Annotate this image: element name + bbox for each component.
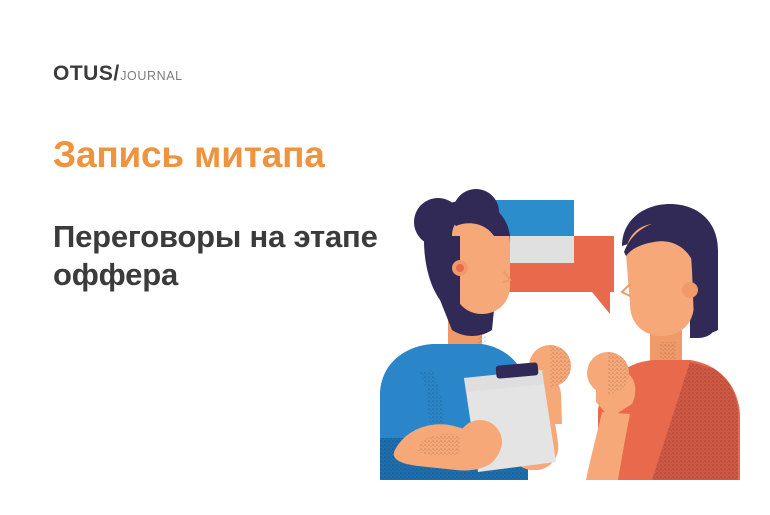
kicker-text: Запись митапа xyxy=(53,136,325,175)
bubble-overlap-region xyxy=(501,236,574,263)
logo-word-text: JOURNAL xyxy=(120,69,183,83)
otus-journal-logo[interactable]: OTUS/JOURNAL xyxy=(53,62,183,86)
hero-illustration xyxy=(360,180,760,500)
logo-mark-text: OTUS xyxy=(53,62,113,86)
logo-slash: / xyxy=(113,62,119,86)
poster-card: OTUS/JOURNAL Запись митапа Переговоры на… xyxy=(0,0,770,515)
